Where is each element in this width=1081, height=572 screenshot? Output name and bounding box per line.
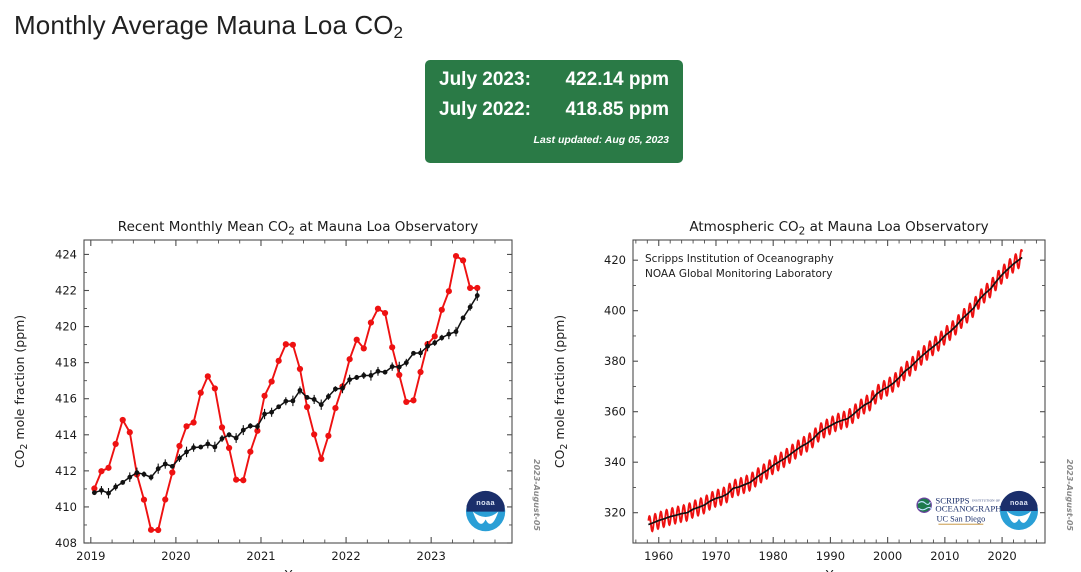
page-title-text: Monthly Average Mauna Loa CO: [14, 10, 394, 40]
data-point: [361, 345, 367, 351]
data-point: [255, 424, 260, 429]
x-tick-label: 2010: [930, 549, 959, 563]
data-point: [262, 412, 267, 417]
data-point: [354, 375, 359, 380]
data-point: [319, 402, 324, 407]
series-seasonal-trend: [94, 296, 477, 494]
data-point: [276, 404, 281, 409]
plot-annotation: NOAA Global Monitoring Laboratory: [645, 268, 832, 280]
recent-monthly-mean-chart: Recent Monthly Mean CO2 at Mauna Loa Obs…: [0, 215, 540, 572]
data-point: [411, 351, 416, 356]
data-point: [446, 288, 452, 294]
y-tick-label: 412: [55, 464, 77, 478]
x-tick-label: 1980: [759, 549, 788, 563]
data-point: [368, 320, 374, 326]
data-point: [135, 470, 140, 475]
data-point: [241, 428, 246, 433]
data-point: [162, 496, 168, 502]
y-tick-label: 416: [55, 392, 77, 406]
noaa-logo-icon: noaa: [1000, 491, 1038, 530]
reading-label-current: July 2023:: [439, 69, 541, 91]
reading-value-current: 422.14 ppm: [541, 69, 669, 91]
x-tick-label: 2020: [987, 549, 1016, 563]
reading-label-prior: July 2022:: [439, 99, 541, 121]
data-point: [333, 387, 338, 392]
data-point: [340, 386, 345, 391]
data-point: [347, 377, 352, 382]
reading-value-prior: 418.85 ppm: [541, 99, 669, 121]
date-stamp: 2023-August-05: [532, 459, 540, 531]
x-tick-label: 2000: [873, 549, 902, 563]
data-point: [205, 373, 211, 379]
data-point: [397, 365, 402, 370]
data-point: [233, 477, 239, 483]
svg-text:CO2 mole fraction (ppm): CO2 mole fraction (ppm): [552, 315, 570, 468]
data-point: [375, 306, 381, 312]
data-point: [326, 394, 331, 399]
y-tick-label: 418: [55, 356, 77, 370]
page-title-subscript: 2: [394, 23, 404, 42]
data-point: [120, 417, 126, 423]
data-point: [460, 257, 466, 263]
data-point: [290, 398, 295, 403]
y-axis-title: CO2 mole fraction (ppm): [552, 315, 570, 468]
data-point: [439, 307, 445, 313]
data-point: [198, 445, 203, 450]
data-point: [212, 385, 218, 391]
svg-text:OCEANOGRAPHY: OCEANOGRAPHY: [935, 504, 1008, 514]
data-point: [127, 429, 133, 435]
series-monthly-average: [94, 256, 477, 530]
date-stamp: 2023-August-05: [1065, 459, 1074, 531]
data-point: [389, 344, 395, 350]
full-record-svg: Atmospheric CO2 at Mauna Loa Observatory…: [540, 215, 1081, 572]
data-point: [205, 442, 210, 447]
x-tick-label: 1990: [816, 549, 845, 563]
svg-text:INSTITUTION OF: INSTITUTION OF: [972, 499, 1000, 503]
data-point: [276, 358, 282, 364]
series-seasonal-trend: [648, 257, 1022, 524]
y-tick-label: 414: [55, 428, 77, 442]
y-tick-label: 422: [55, 284, 77, 298]
data-point: [474, 285, 480, 291]
scripps-ucsd-logo-icon: SCRIPPSINSTITUTION OFOCEANOGRAPHYUC San …: [916, 495, 1008, 524]
data-point: [361, 373, 366, 378]
data-point: [148, 527, 154, 533]
data-point: [191, 445, 196, 450]
data-point: [354, 337, 360, 343]
data-point: [403, 399, 409, 405]
data-point: [149, 475, 154, 480]
data-point: [383, 370, 388, 375]
data-point: [176, 443, 182, 449]
data-point: [212, 444, 217, 449]
noaa-logo-icon: noaa: [466, 491, 505, 531]
data-point: [467, 285, 473, 291]
data-point: [269, 378, 275, 384]
plot-annotation: Scripps Institution of Oceanography: [645, 253, 834, 265]
data-point: [283, 399, 288, 404]
y-tick-label: 400: [604, 304, 626, 318]
x-tick-label: 2021: [246, 549, 275, 563]
data-point: [127, 475, 132, 480]
series-monthly-average: [648, 250, 1022, 531]
data-point: [184, 450, 189, 455]
data-point: [454, 329, 459, 334]
data-point: [332, 405, 338, 411]
data-point: [240, 477, 246, 483]
data-point: [98, 468, 104, 474]
data-point: [418, 351, 423, 356]
y-tick-label: 360: [604, 405, 626, 419]
data-point: [390, 364, 395, 369]
svg-text:2023-August-05: 2023-August-05: [1065, 459, 1074, 531]
data-point: [219, 424, 225, 430]
latest-readings-card: July 2023: 422.14 ppm July 2022: 418.85 …: [425, 60, 683, 163]
data-point: [170, 464, 175, 469]
data-point: [247, 449, 253, 455]
data-point: [376, 369, 381, 374]
y-tick-label: 424: [55, 247, 77, 261]
data-point: [369, 373, 374, 378]
y-axis-title: CO2 mole fraction (ppm): [12, 315, 30, 468]
x-tick-label: 2020: [161, 549, 190, 563]
data-point: [191, 419, 197, 425]
data-point: [106, 491, 111, 496]
recent-monthly-mean-svg: Recent Monthly Mean CO2 at Mauna Loa Obs…: [0, 215, 540, 572]
series-seasonal-trend: [648, 257, 1022, 524]
y-tick-label: 410: [55, 500, 77, 514]
data-point: [226, 445, 232, 451]
x-tick-label: 2022: [331, 549, 360, 563]
data-point: [269, 410, 274, 415]
y-tick-label: 408: [55, 536, 77, 550]
data-point: [177, 456, 182, 461]
y-tick-label: 340: [604, 455, 626, 469]
svg-text:UC San Diego: UC San Diego: [936, 515, 985, 524]
reading-row: July 2023: 422.14 ppm: [439, 69, 669, 99]
data-point: [453, 253, 459, 259]
x-tick-label: 1970: [701, 549, 730, 563]
svg-text:noaa: noaa: [1010, 499, 1028, 507]
data-point: [311, 431, 317, 437]
data-point: [312, 397, 317, 402]
data-point: [227, 432, 232, 437]
last-updated-label: Last updated: Aug 05, 2023: [439, 134, 669, 146]
y-tick-label: 380: [604, 354, 626, 368]
data-point: [183, 423, 189, 429]
data-point: [305, 395, 310, 400]
data-point: [425, 344, 430, 349]
data-point: [283, 341, 289, 347]
data-point: [396, 372, 402, 378]
svg-text:noaa: noaa: [476, 498, 495, 507]
data-point: [325, 433, 331, 439]
data-point: [120, 480, 125, 485]
data-point: [468, 305, 473, 310]
data-point: [404, 360, 409, 365]
x-tick-label: 1960: [644, 549, 673, 563]
data-point: [297, 366, 303, 372]
data-point: [155, 527, 161, 533]
data-point: [248, 424, 253, 429]
data-point: [156, 466, 161, 471]
data-point: [92, 490, 97, 495]
data-point: [446, 332, 451, 337]
reading-row: July 2022: 418.85 ppm: [439, 99, 669, 129]
data-point: [298, 388, 303, 393]
y-tick-label: 420: [55, 320, 77, 334]
data-point: [113, 485, 118, 490]
data-point: [169, 469, 175, 475]
x-tick-label: 2023: [417, 549, 446, 563]
svg-text:CO2 mole fraction (ppm): CO2 mole fraction (ppm): [12, 315, 30, 468]
data-point: [220, 436, 225, 441]
data-point: [347, 356, 353, 362]
data-point: [382, 310, 388, 316]
page-title: Monthly Average Mauna Loa CO2: [14, 10, 403, 41]
chart-title: Recent Monthly Mean CO2 at Mauna Loa Obs…: [118, 219, 478, 237]
data-point: [475, 293, 480, 298]
data-point: [198, 390, 204, 396]
y-tick-label: 420: [604, 253, 626, 267]
x-tick-label: 2019: [76, 549, 105, 563]
data-point: [113, 441, 119, 447]
data-point: [141, 497, 147, 503]
data-point: [105, 465, 111, 471]
data-point: [417, 369, 423, 375]
data-point: [142, 472, 147, 477]
x-axis-title: Year: [284, 567, 312, 572]
y-tick-label: 320: [604, 506, 626, 520]
data-point: [439, 335, 444, 340]
full-record-chart: Atmospheric CO2 at Mauna Loa Observatory…: [540, 215, 1081, 572]
data-point: [99, 488, 104, 493]
data-point: [304, 404, 310, 410]
data-point: [318, 456, 324, 462]
x-axis-title: Year: [825, 567, 853, 572]
data-point: [290, 342, 296, 348]
data-point: [432, 340, 437, 345]
data-point: [163, 462, 168, 467]
data-point: [410, 397, 416, 403]
data-point: [461, 316, 466, 321]
data-point: [261, 393, 267, 399]
chart-title: Atmospheric CO2 at Mauna Loa Observatory: [689, 219, 988, 237]
svg-text:2023-August-05: 2023-August-05: [532, 459, 540, 531]
data-point: [432, 333, 438, 339]
data-point: [234, 436, 239, 441]
